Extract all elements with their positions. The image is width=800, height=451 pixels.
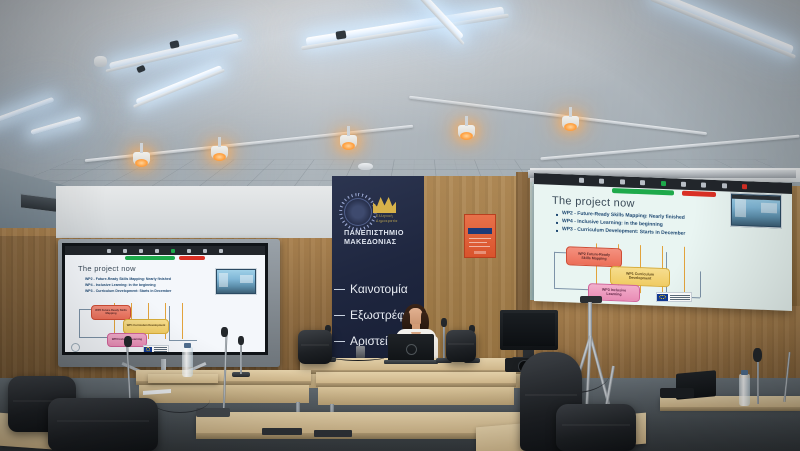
crown-icon xyxy=(373,196,396,213)
slide-title-right: The project now xyxy=(552,195,635,210)
diagram-connector xyxy=(169,340,197,341)
reactions-icon[interactable] xyxy=(203,249,207,253)
slide-bullet-right-2: WP3 - Curriculum Development: Starts in … xyxy=(562,226,685,237)
diagram-box-wp2: WP2 Future-Ready Skills Mapping xyxy=(91,305,131,320)
stop-share-button-left[interactable] xyxy=(179,256,205,260)
record-icon[interactable] xyxy=(187,249,191,253)
water-bottle xyxy=(182,347,193,377)
wall-upper-back xyxy=(56,186,356,242)
microphone-stem xyxy=(757,358,759,404)
org-logo-left xyxy=(71,343,80,352)
diagram-connector xyxy=(554,252,555,288)
microphone-stem xyxy=(240,342,242,374)
institution-name-line1: ΠΑΝΕΠΙΣΤΗΜΙΟ xyxy=(344,228,404,237)
mic-icon[interactable] xyxy=(579,178,584,183)
participants-icon[interactable] xyxy=(620,179,625,184)
presenter-laptop-base xyxy=(384,360,438,364)
microphone-stem xyxy=(443,324,445,360)
milestone-line xyxy=(182,303,183,339)
eu-logo-text xyxy=(669,295,691,300)
bottle-cap xyxy=(184,343,191,348)
eu-flag-icon xyxy=(144,347,152,352)
more-icon[interactable] xyxy=(219,249,223,253)
desk-tablet xyxy=(196,408,230,417)
banner-dash xyxy=(334,315,345,316)
sharing-banner-right xyxy=(612,188,674,195)
track-spotlight xyxy=(340,135,357,148)
eu-logo-text xyxy=(153,347,168,352)
webcam-thumbnail-left[interactable] xyxy=(215,268,257,295)
banner-dash xyxy=(334,289,345,290)
bottle-cap xyxy=(741,370,748,375)
office-chair xyxy=(48,398,158,451)
vc-toolbar-left[interactable] xyxy=(65,246,265,255)
university-emblem-icon xyxy=(344,198,372,226)
camera-icon[interactable] xyxy=(123,249,127,253)
diagram-box-wp3-label: WP3 Inclusive Learning xyxy=(602,288,626,296)
emblem-caption-line2: Δημοκρατία xyxy=(376,219,398,223)
right-middle-desk-front xyxy=(318,387,514,405)
microphone-head xyxy=(238,336,244,345)
slide-right: The project now WP2 - Future-Ready Skill… xyxy=(534,173,792,311)
microphone-head xyxy=(124,336,132,347)
desk-nameplate xyxy=(262,428,302,435)
share-screen-icon[interactable] xyxy=(661,181,666,186)
diagram-box-wp2-label: WP2 Future-Ready Skills Mapping xyxy=(578,252,610,261)
banner-dash xyxy=(334,341,345,342)
leave-icon[interactable] xyxy=(742,184,747,189)
track-spotlight xyxy=(562,116,579,129)
bullet-marker xyxy=(556,230,558,232)
diagram-box-wp1: WP1 Curriculum Development xyxy=(123,319,169,334)
smoke-detector xyxy=(94,56,107,67)
participants-icon[interactable] xyxy=(139,249,143,253)
slide-title-left: The project now xyxy=(78,264,136,273)
bullet-marker xyxy=(556,214,558,216)
track-spotlight xyxy=(458,125,475,138)
office-chair-small xyxy=(298,330,332,364)
track-spotlight xyxy=(133,152,150,165)
record-icon[interactable] xyxy=(681,182,686,187)
desk-nameplate xyxy=(314,430,352,437)
microphone-head xyxy=(441,318,447,327)
eu-logo-right xyxy=(656,292,692,302)
floor-cable xyxy=(150,386,210,413)
banner-value-0: Καινοτομία xyxy=(350,282,408,296)
diagram-connector xyxy=(79,309,80,337)
microphone-head xyxy=(753,348,762,362)
eu-flag-icon xyxy=(657,294,668,301)
diagram-box-wp2-label: WP2 Future-Ready Skills Mapping xyxy=(92,310,130,316)
laptop-logo-icon xyxy=(406,344,417,355)
microphone-head xyxy=(221,327,228,337)
diagram-box-wp1-label: WP1 Curriculum Development xyxy=(127,325,166,328)
track-spotlight xyxy=(211,146,228,159)
institution-name-line2: ΜΑΚΕΔΟΝΙΑΣ xyxy=(344,237,396,246)
office-chair-small xyxy=(446,330,476,362)
milestone-line xyxy=(684,247,685,295)
camera-icon[interactable] xyxy=(599,179,604,184)
monitor-screen xyxy=(503,313,555,346)
share-screen-icon[interactable] xyxy=(171,249,175,253)
reactions-icon[interactable] xyxy=(701,182,706,187)
diagram-connector xyxy=(169,306,170,340)
sharing-banner-left xyxy=(125,256,175,260)
emblem-caption-line1: Ελληνική xyxy=(376,214,393,218)
chat-icon[interactable] xyxy=(155,249,159,253)
right-desk-device xyxy=(660,388,694,398)
office-chair xyxy=(556,404,636,451)
water-bottle xyxy=(739,374,750,406)
diagram-box-wp2: WP2 Future-Ready Skills Mapping xyxy=(566,246,622,267)
smoke-detector xyxy=(358,163,373,170)
display-left-frame: The project now WP2 - Future-Ready Skill… xyxy=(58,239,280,367)
slide-left: The project now WP2 - Future-Ready Skill… xyxy=(65,246,265,352)
slide-bullet-left-1: WP4 - Inclusive Learning: in the beginni… xyxy=(85,283,156,287)
webcam-thumbnail-right[interactable] xyxy=(730,193,782,229)
right-rear-desk-edge xyxy=(660,407,800,411)
more-icon[interactable] xyxy=(722,183,727,188)
eu-logo-left xyxy=(143,345,169,352)
mic-icon[interactable] xyxy=(107,249,111,253)
stop-share-button-right[interactable] xyxy=(682,191,716,197)
evacuation-poster xyxy=(464,214,496,258)
diagram-connector xyxy=(700,271,701,297)
slide-bullet-left-0: WP2 - Future-Ready Skills Mapping: Nearl… xyxy=(85,277,171,281)
tripod-column xyxy=(588,302,592,340)
chat-icon[interactable] xyxy=(640,180,645,185)
conference-room-photo: Ελληνική Δημοκρατία ΠΑΝΕΠΙΣΤΗΜΙΟ ΜΑΚΕΔΟΝ… xyxy=(0,0,800,451)
slide-bullet-left-2: WP3 - Curriculum Development: Starts in … xyxy=(85,289,171,293)
tube-end-cap xyxy=(335,30,346,39)
desk-cable xyxy=(330,352,386,361)
bullet-marker xyxy=(556,222,558,224)
diagram-box-wp1-label: WP1 Curriculum Development xyxy=(626,272,654,281)
